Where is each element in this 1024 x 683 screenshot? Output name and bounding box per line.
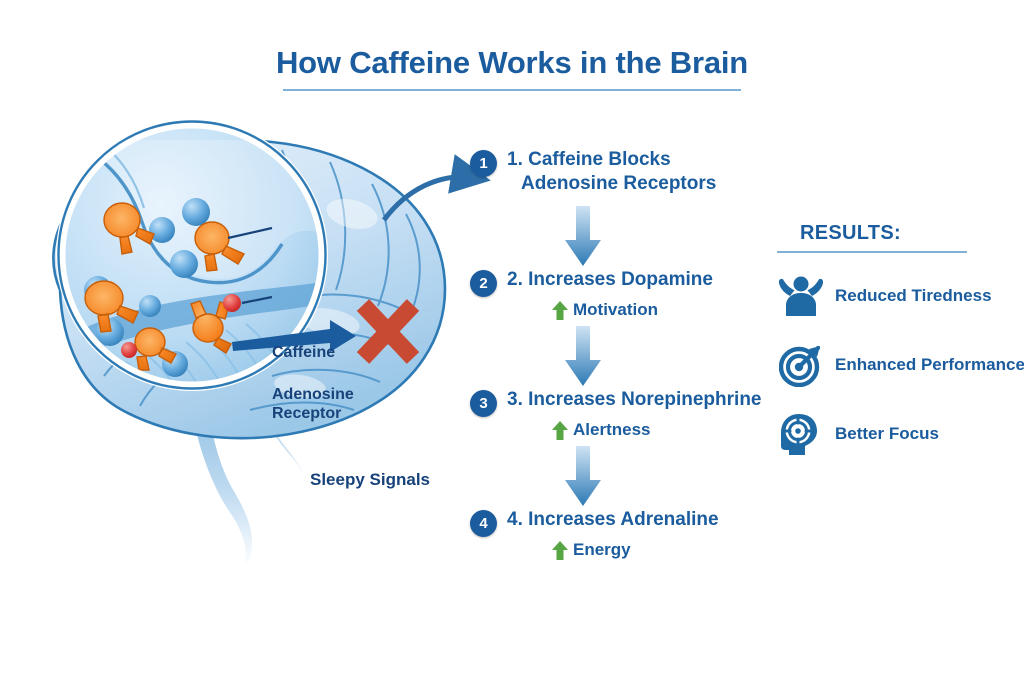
green-up-arrow-icon — [552, 541, 568, 560]
results-underline — [777, 251, 967, 253]
callout-adenosine-line2: Receptor — [272, 405, 341, 422]
green-up-arrow-icon — [552, 421, 568, 440]
person-arms-raised-icon — [775, 272, 827, 320]
step-2[interactable]: 2 2. Increases Dopamine Motivation — [470, 268, 770, 320]
target-dart-icon — [775, 341, 827, 389]
step-4[interactable]: 4 4. Increases Adrenaline Energy — [470, 508, 770, 560]
results-title: RESULTS: — [775, 222, 1020, 245]
head-crosshair-icon — [775, 410, 827, 458]
callout-caffeine: Caffeine — [272, 344, 335, 363]
title-underline — [283, 89, 741, 91]
callout-adenosine-receptor: Adenosine Receptor — [272, 386, 354, 424]
result-label-better-focus: Better Focus — [835, 424, 939, 444]
step-1-line2: Adenosine Receptors — [507, 172, 716, 196]
result-item-reduced-tiredness[interactable]: Reduced Tiredness — [775, 270, 1020, 322]
results-panel: RESULTS: Reduced Tiredness — [775, 222, 1020, 460]
step-3-benefit-label: Alertness — [573, 420, 650, 440]
steps-flow: 1 1. Caffeine Blocks Adenosine Receptors… — [470, 148, 770, 568]
step-1[interactable]: 1 1. Caffeine Blocks Adenosine Receptors — [470, 148, 770, 196]
infographic-canvas: How Caffeine Works in the Brain — [0, 0, 1024, 683]
step-2-badge: 2 — [470, 270, 497, 297]
page-title: How Caffeine Works in the Brain — [0, 46, 1024, 80]
green-up-arrow-icon — [552, 301, 568, 320]
step-1-line1: 1. Caffeine Blocks — [507, 149, 671, 170]
result-item-enhanced-performance[interactable]: Enhanced Performance — [775, 339, 1020, 391]
step-3-benefit: Alertness — [470, 420, 770, 440]
step-3-text: 3. Increases Norepinephrine — [507, 388, 762, 412]
flow-arrow-3-to-4 — [563, 446, 603, 510]
step-4-text: 4. Increases Adrenaline — [507, 508, 719, 532]
callout-adenosine-line1: Adenosine — [272, 386, 354, 403]
step-2-benefit-label: Motivation — [573, 300, 658, 320]
step-1-text: 1. Caffeine Blocks Adenosine Receptors — [507, 148, 716, 196]
result-label-enhanced-performance: Enhanced Performance — [835, 355, 1024, 375]
result-item-better-focus[interactable]: Better Focus — [775, 408, 1020, 460]
step-2-text: 2. Increases Dopamine — [507, 268, 713, 292]
flow-arrow-2-to-3 — [563, 326, 603, 390]
step-3[interactable]: 3 3. Increases Norepinephrine Alertness — [470, 388, 770, 440]
title-block: How Caffeine Works in the Brain — [0, 46, 1024, 91]
step-2-benefit: Motivation — [470, 300, 770, 320]
flow-arrow-1-to-2 — [563, 206, 603, 270]
step-4-benefit: Energy — [470, 540, 770, 560]
step-4-benefit-label: Energy — [573, 540, 631, 560]
step-3-badge: 3 — [470, 390, 497, 417]
step-4-badge: 4 — [470, 510, 497, 537]
callout-sleepy-signals: Sleepy Signals — [310, 470, 430, 490]
step-1-badge: 1 — [470, 150, 497, 177]
result-label-reduced-tiredness: Reduced Tiredness — [835, 286, 992, 306]
